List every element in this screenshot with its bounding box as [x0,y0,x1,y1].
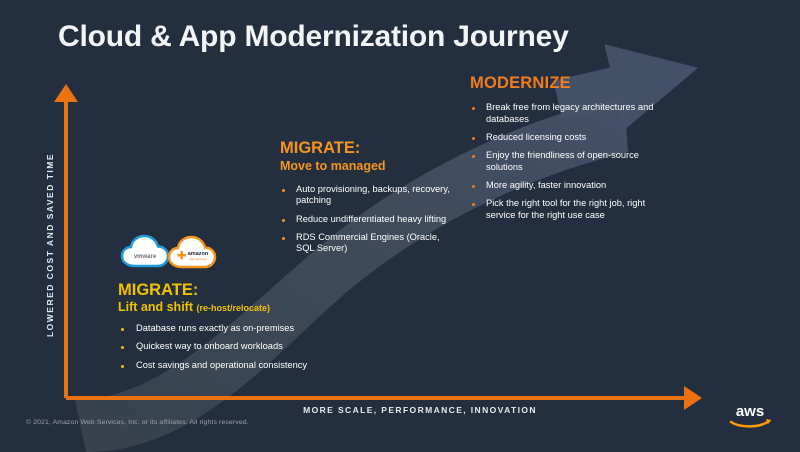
migrate-lift-subheading-note: (re-host/relocate) [196,303,270,313]
list-item: RDS Commercial Engines (Oracle, SQL Serv… [280,232,460,255]
slide-canvas: Cloud & App Modernization Journey LOWERE… [0,0,800,452]
list-item: More agility, faster innovation [470,180,675,191]
page-title: Cloud & App Modernization Journey [58,20,569,54]
aws-logo: aws [722,400,778,430]
list-item: Database runs exactly as on-premises [118,323,368,334]
migrate-managed-block: MIGRATE: Move to managed Auto provisioni… [280,139,460,261]
migrate-lift-heading: MIGRATE: [118,281,368,299]
list-item: Auto provisioning, backups, recovery, pa… [280,184,460,207]
modernize-block: MODERNIZE Break free from legacy archite… [470,74,675,228]
amazon-wordmark: amazon [188,251,209,257]
list-item: Pick the right tool for the right job, r… [470,198,675,221]
migrate-lift-subheading-text: Lift and shift [118,300,193,314]
list-item: Reduced licensing costs [470,132,675,143]
list-item: Enjoy the friendliness of open-source so… [470,150,675,173]
vmware-cloud-icon: vmware [122,236,168,266]
x-axis-label: MORE SCALE, PERFORMANCE, INNOVATION [250,405,590,415]
aws-smile-icon [731,421,769,426]
amazon-wordmark-sub: web services [188,257,207,261]
aws-wordmark: aws [736,403,764,420]
cloud-logos-group: vmware amazon web services [118,231,226,277]
migrate-managed-bullet-list: Auto provisioning, backups, recovery, pa… [280,184,460,255]
y-axis-arrowhead-icon [54,84,78,102]
list-item: Cost savings and operational consistency [118,360,368,371]
migrate-lift-bullet-list: Database runs exactly as on-premises Qui… [118,323,368,371]
vmware-wordmark: vmware [134,254,157,260]
migrate-lift-block: MIGRATE: Lift and shift (re-host/relocat… [118,281,368,378]
migrate-lift-subheading: Lift and shift (re-host/relocate) [118,300,368,314]
list-item: Quickest way to onboard workloads [118,341,368,352]
y-axis-label: LOWERED COST AND SAVED TIME [45,135,55,355]
x-axis-arrowhead-icon [684,386,702,410]
modernize-heading: MODERNIZE [470,74,675,92]
list-item: Break free from legacy architectures and… [470,102,675,125]
migrate-managed-subheading: Move to managed [280,159,460,173]
aws-cloud-icon: amazon web services [169,237,215,267]
list-item: Reduce undifferentiated heavy lifting [280,214,460,225]
modernize-bullet-list: Break free from legacy architectures and… [470,102,675,221]
migrate-managed-heading: MIGRATE: [280,139,460,157]
copyright-text: © 2021, Amazon Web Services, Inc. or its… [26,419,249,426]
